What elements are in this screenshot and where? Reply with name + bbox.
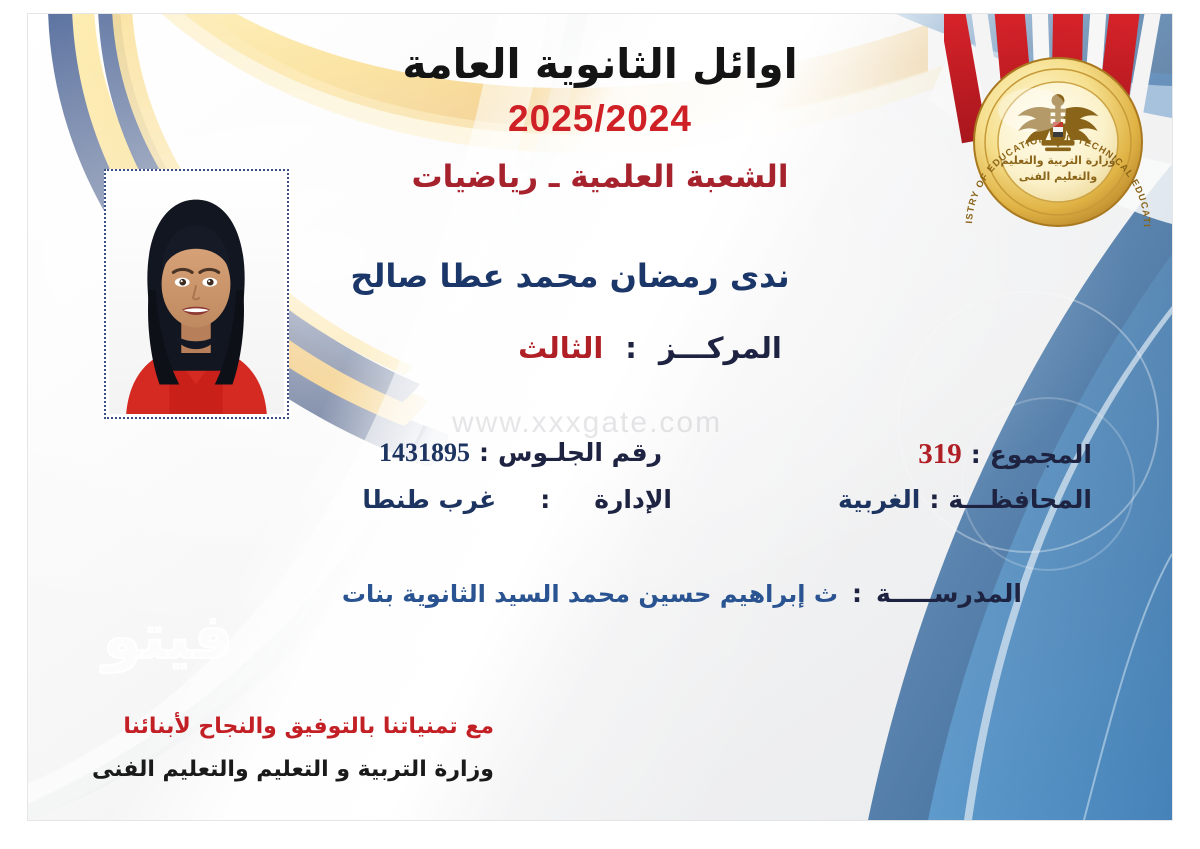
footer-ministry-text: وزارة التربية و التعليم والتعليم الفنى: [92, 757, 494, 782]
governorate-value: الغربية: [838, 485, 920, 514]
table-row: المحافظـــة : الغربية الإدارة : غرب طنطا: [98, 485, 1092, 532]
administration-value: غرب طنطا: [362, 485, 496, 514]
page-title: اوائل الثانوية العامة: [28, 40, 1172, 88]
school-label: المدرســـــة: [876, 579, 1022, 608]
seat-number-cell: رقم الجلـوس : 1431895: [379, 438, 662, 468]
administration-colon: :: [496, 485, 594, 514]
rank-label: المركـــز: [659, 331, 782, 365]
school-colon: :: [838, 579, 876, 608]
footer-wish-text: مع تمنياتنا بالتوفيق والنجاح لأبنائنا: [92, 714, 494, 739]
total-value: 319: [918, 438, 962, 471]
seat-number-value: 1431895: [379, 438, 470, 468]
school-cell: المدرســـــة : ث إبراهيم حسين محمد السيد…: [342, 579, 1022, 608]
table-row: المجموع : 319 رقم الجلـوس : 1431895: [98, 438, 1092, 485]
rank-value: الثالث: [518, 331, 603, 365]
rank-colon: :: [625, 331, 637, 365]
division-subtitle: الشعبة العلمية ـ رياضيات: [28, 159, 1172, 195]
certificate-content: اوائل الثانوية العامة 2025/2024 الشعبة ا…: [28, 14, 1172, 820]
footer: مع تمنياتنا بالتوفيق والنجاح لأبنائنا وز…: [92, 714, 494, 782]
total-label: المجموع: [990, 440, 1092, 469]
school-value: ث إبراهيم حسين محمد السيد الثانوية بنات: [342, 580, 838, 608]
administration-label: الإدارة: [594, 485, 672, 514]
seat-number-label: رقم الجلـوس: [498, 438, 662, 467]
academic-year: 2025/2024: [28, 98, 1172, 140]
total-colon: :: [962, 440, 990, 469]
rank-row: المركـــز : الثالث: [448, 331, 852, 365]
total-cell: المجموع : 319: [918, 438, 1092, 471]
administration-cell: الإدارة : غرب طنطا: [362, 485, 672, 514]
governorate-label: المحافظـــة: [948, 485, 1092, 514]
info-grid: المجموع : 319 رقم الجلـوس : 1431895 المح…: [98, 438, 1092, 532]
student-photo-frame: [104, 169, 289, 419]
certificate-card: MINISTRY OF EDUCATION AND TECHNICAL EDUC…: [28, 14, 1172, 820]
seat-number-colon: :: [470, 438, 498, 467]
governorate-cell: المحافظـــة : الغربية: [838, 485, 1092, 514]
student-photo: [109, 174, 284, 414]
governorate-colon: :: [920, 485, 948, 514]
student-name: ندى رمضان محمد عطا صالح: [298, 257, 842, 295]
